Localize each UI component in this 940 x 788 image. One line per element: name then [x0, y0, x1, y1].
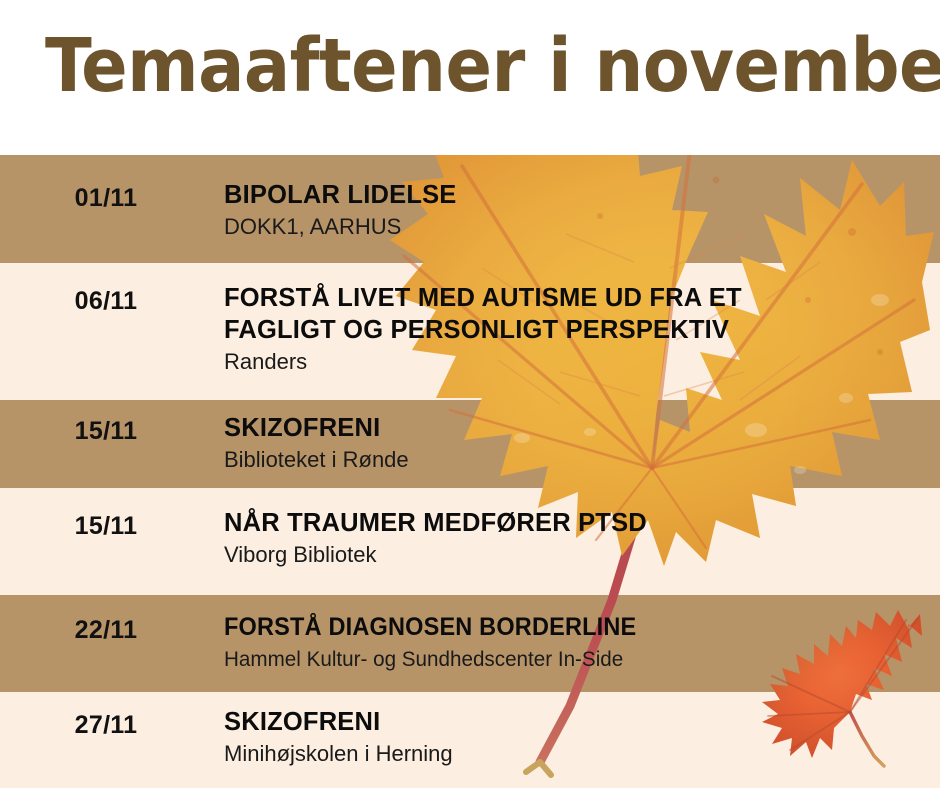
event-details: NÅR TRAUMER MEDFØRER PTSD Viborg Bibliot… — [224, 507, 932, 569]
page-title: Temaaftener i november — [45, 24, 931, 108]
event-venue: DOKK1, AARHUS — [224, 213, 932, 241]
list-item[interactable]: 27/11 SKIZOFRENI Minihøjskolen i Herning — [0, 692, 940, 788]
list-item[interactable]: 01/11 BIPOLAR LIDELSE DOKK1, AARHUS — [0, 155, 940, 263]
event-venue: Viborg Bibliotek — [224, 541, 932, 569]
event-details: FORSTÅ DIAGNOSEN BORDERLINE Hammel Kultu… — [224, 611, 932, 673]
poster-canvas: Temaaftener i november 01/11 BIPOLAR LID… — [0, 0, 940, 788]
event-details: BIPOLAR LIDELSE DOKK1, AARHUS — [224, 179, 932, 241]
event-title: SKIZOFRENI — [224, 706, 932, 738]
event-date: 15/11 — [50, 417, 162, 446]
poster-header: Temaaftener i november — [0, 0, 940, 155]
event-details: FORSTÅ LIVET MED AUTISME UD FRA ET FAGLI… — [224, 282, 932, 376]
event-title: NÅR TRAUMER MEDFØRER PTSD — [224, 507, 932, 539]
event-venue: Minihøjskolen i Herning — [224, 740, 932, 768]
event-date: 27/11 — [50, 711, 162, 740]
event-details: SKIZOFRENI Biblioteket i Rønde — [224, 412, 932, 474]
event-date: 01/11 — [50, 184, 162, 213]
event-venue: Biblioteket i Rønde — [224, 446, 932, 474]
event-title: BIPOLAR LIDELSE — [224, 179, 932, 211]
event-venue: Randers — [224, 348, 932, 376]
event-date: 22/11 — [50, 616, 162, 645]
list-item[interactable]: 15/11 NÅR TRAUMER MEDFØRER PTSD Viborg B… — [0, 488, 940, 595]
event-title: SKIZOFRENI — [224, 412, 932, 444]
event-title: FORSTÅ DIAGNOSEN BORDERLINE — [224, 611, 890, 643]
event-date: 06/11 — [50, 287, 162, 316]
event-details: SKIZOFRENI Minihøjskolen i Herning — [224, 706, 932, 768]
list-item[interactable]: 06/11 FORSTÅ LIVET MED AUTISME UD FRA ET… — [0, 263, 940, 400]
event-title: FORSTÅ LIVET MED AUTISME UD FRA ET FAGLI… — [224, 282, 932, 346]
event-date: 15/11 — [50, 512, 162, 541]
list-item[interactable]: 22/11 FORSTÅ DIAGNOSEN BORDERLINE Hammel… — [0, 595, 940, 692]
list-item[interactable]: 15/11 SKIZOFRENI Biblioteket i Rønde — [0, 400, 940, 488]
event-venue: Hammel Kultur- og Sundhedscenter In-Side — [224, 645, 904, 673]
